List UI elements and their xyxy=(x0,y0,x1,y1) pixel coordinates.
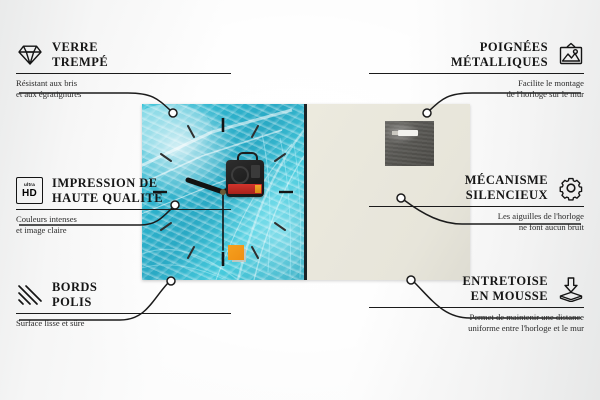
divider xyxy=(16,209,231,210)
feature-title-line1: MÉCANISME xyxy=(465,173,548,188)
diamond-icon xyxy=(16,41,43,68)
feature-desc-line2: de l'horloge sur le mur xyxy=(369,89,584,100)
feature-desc-line1: Résistant aux bris xyxy=(16,78,231,89)
arrow-down-pad-icon xyxy=(557,275,584,302)
feature-title-line2: MÉTALLIQUES xyxy=(451,55,548,70)
feature-poignees-metalliques: POIGNÉES MÉTALLIQUES Facilite le montage… xyxy=(369,40,584,101)
feature-title-line2: POLIS xyxy=(52,295,97,310)
feature-title-line2: HAUTE QUALITÉ xyxy=(52,191,163,206)
feature-bords-polis: BORDS POLIS Surface lisse et sûre xyxy=(16,280,231,329)
feature-desc-line2: uniforme entre l'horloge et le mur xyxy=(369,323,584,334)
clock-mechanism xyxy=(226,160,264,197)
feature-description: Permet de maintenir une distance uniform… xyxy=(369,312,584,335)
feature-header: POIGNÉES MÉTALLIQUES xyxy=(369,40,584,70)
feature-mecanisme-silencieux: MÉCANISME SILENCIEUX Les aiguilles de l'… xyxy=(369,173,584,234)
feature-title: MÉCANISME SILENCIEUX xyxy=(465,173,548,203)
divider xyxy=(369,206,584,207)
feature-title-line1: POIGNÉES xyxy=(451,40,548,55)
feature-desc-line1: Permet de maintenir une distance xyxy=(369,312,584,323)
infographic-canvas: VERRE TREMPÉ Résistant aux bris et aux é… xyxy=(0,0,600,400)
feature-entretoise-en-mousse: ENTRETOISE EN MOUSSE Permet de maintenir… xyxy=(369,274,584,335)
feature-description: Facilite le montage de l'horloge sur le … xyxy=(369,78,584,101)
foam-spacer xyxy=(228,245,244,260)
feature-title-line1: ENTRETOISE xyxy=(462,274,548,289)
feature-header: VERRE TREMPÉ xyxy=(16,40,231,70)
feature-title: VERRE TREMPÉ xyxy=(52,40,108,70)
mechanism-chip xyxy=(251,165,260,178)
feature-title-line1: VERRE xyxy=(52,40,108,55)
feature-desc-line2: et image claire xyxy=(16,225,231,236)
feature-desc-line2: et aux égratignures xyxy=(16,89,231,100)
divider xyxy=(16,313,231,314)
ultra-hd-main-text: HD xyxy=(22,189,37,199)
battery xyxy=(228,184,262,194)
feature-title-line2: TREMPÉ xyxy=(52,55,108,70)
hanger-slot xyxy=(398,130,418,136)
mechanism-dial xyxy=(231,166,249,184)
feature-title: ENTRETOISE EN MOUSSE xyxy=(462,274,548,304)
diagonal-lines-icon xyxy=(16,281,43,308)
feature-title: BORDS POLIS xyxy=(52,280,97,310)
gear-icon xyxy=(557,174,584,201)
divider xyxy=(369,73,584,74)
feature-desc-line1: Les aiguilles de l'horloge xyxy=(369,211,584,222)
feature-desc-line1: Facilite le montage xyxy=(369,78,584,89)
feature-desc-line2: ne font aucun bruit xyxy=(369,222,584,233)
feature-description: Surface lisse et sûre xyxy=(16,318,231,329)
feature-title-line1: BORDS xyxy=(52,280,97,295)
feature-description: Résistant aux bris et aux égratignures xyxy=(16,78,231,101)
feature-verre-trempe: VERRE TREMPÉ Résistant aux bris et aux é… xyxy=(16,40,231,101)
feature-desc-line1: Couleurs intenses xyxy=(16,214,231,225)
feature-header: ultra HD IMPRESSION DE HAUTE QUALITÉ xyxy=(16,176,231,206)
ultra-hd-icon: ultra HD xyxy=(16,177,43,204)
feature-title: POIGNÉES MÉTALLIQUES xyxy=(451,40,548,70)
divider xyxy=(16,73,231,74)
ultra-hd-top-text: ultra xyxy=(24,183,35,188)
feature-description: Couleurs intenses et image claire xyxy=(16,214,231,237)
feature-header: BORDS POLIS xyxy=(16,280,231,310)
feature-header: ENTRETOISE EN MOUSSE xyxy=(369,274,584,304)
feature-title: IMPRESSION DE HAUTE QUALITÉ xyxy=(52,176,163,206)
metal-hanger-plate xyxy=(385,121,434,166)
picture-frame-hook-icon xyxy=(557,41,584,68)
feature-title-line1: IMPRESSION DE xyxy=(52,176,163,191)
feature-header: MÉCANISME SILENCIEUX xyxy=(369,173,584,203)
feature-desc-line1: Surface lisse et sûre xyxy=(16,318,231,329)
feature-title-line2: EN MOUSSE xyxy=(462,289,548,304)
divider xyxy=(369,307,584,308)
feature-title-line2: SILENCIEUX xyxy=(465,188,548,203)
feature-description: Les aiguilles de l'horloge ne font aucun… xyxy=(369,211,584,234)
feature-impression-haute-qualite: ultra HD IMPRESSION DE HAUTE QUALITÉ Cou… xyxy=(16,176,231,237)
